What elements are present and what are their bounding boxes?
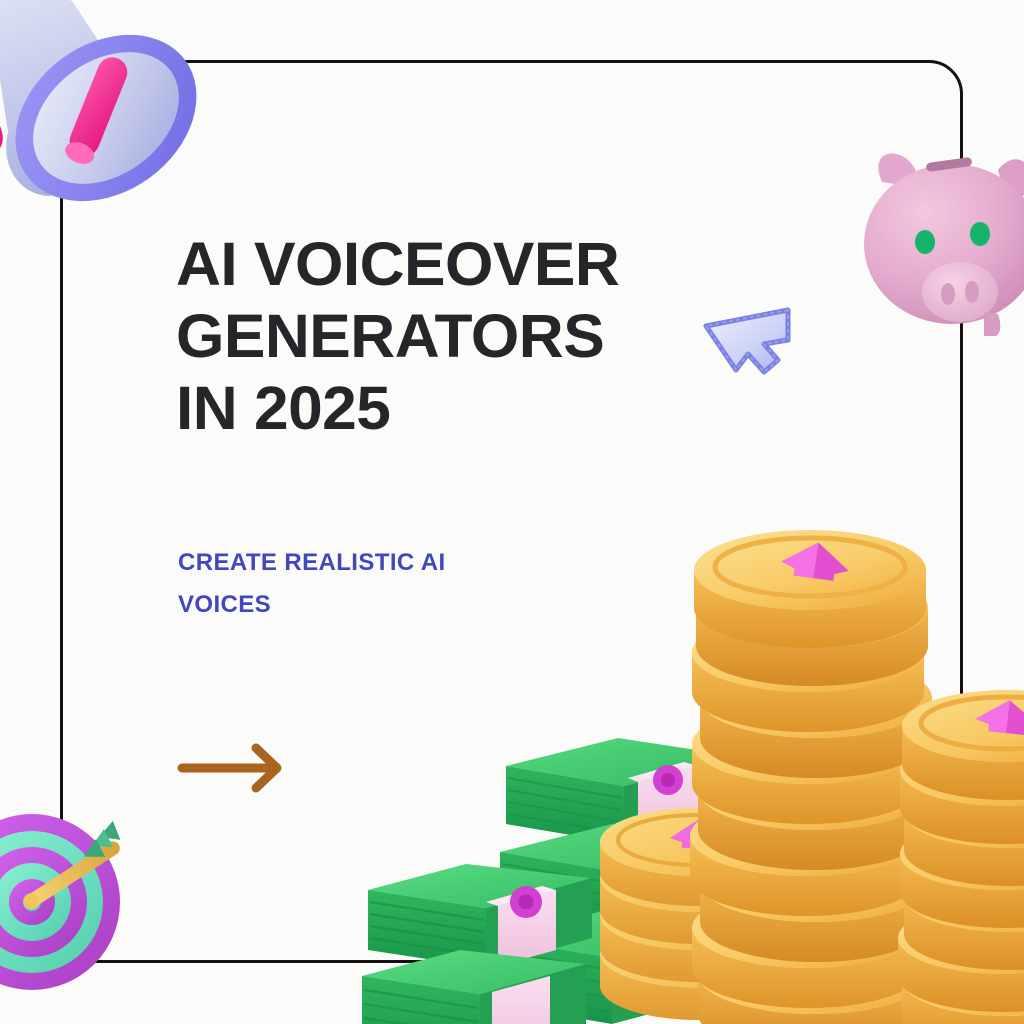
- money-bundle-icon: [360, 856, 620, 1024]
- poster-canvas: AI VOICEOVER GENERATORS IN 2025 CREATE R…: [0, 0, 1024, 1024]
- coin-stack-icon: [690, 528, 940, 1024]
- megaphone-icon: [0, 0, 246, 240]
- arrow-right-icon: [176, 742, 296, 794]
- money-bundle-icon: [488, 722, 738, 1024]
- page-subtitle: CREATE REALISTIC AI VOICES: [178, 542, 508, 626]
- piggy-bank-icon: [848, 126, 1024, 336]
- dartboard-target-icon: [0, 806, 134, 996]
- page-title: AI VOICEOVER GENERATORS IN 2025: [176, 228, 808, 444]
- coin-stack-icon: [592, 804, 802, 1024]
- rounded-border-frame: [60, 60, 963, 963]
- arrow-right-button[interactable]: [176, 742, 296, 794]
- coin-stack-icon: [898, 662, 1024, 1024]
